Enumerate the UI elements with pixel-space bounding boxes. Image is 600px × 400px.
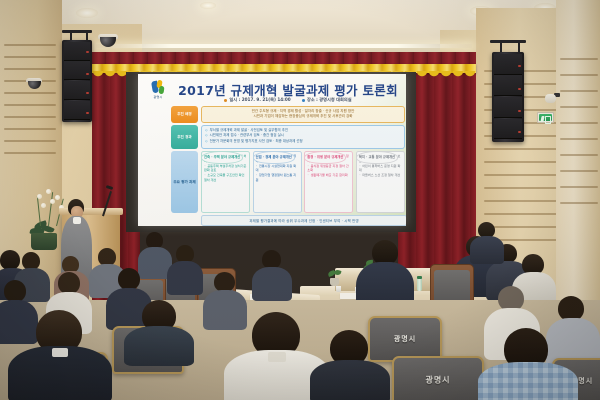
slide-footer: 과제별 평가결과에 따라 상위 우수과제 선정 · 인센티브 부여 · 시책 반… [201,215,406,226]
chair-with-label: 광명시 [392,356,484,400]
logo-caption: 광명시 [145,95,171,99]
speaker-mount-bar-right [490,40,526,43]
line-array-speaker-left [62,40,92,122]
matrix-col-header: 복지 · 교통 분야 규제개선 [356,151,398,164]
matrix-col-header: 건축 · 주택 분야 규제개선 [201,151,243,164]
projected-slide: 광명시 2017년 규제개혁 발굴과제 평가 토론회 일시 : 2017. 9.… [138,74,406,226]
matrix-item: 마을버스 노선 조정 절차 개선 [362,173,400,177]
matrix-item: 공동주택 부설주차장 설치기준 완화 검토 [204,164,246,173]
matrix-item: 어린이 통학버스 운영 지원 확대 [359,164,400,173]
matrix-item: 소규모 건축물 구조안전 확인 절차 개선 [204,173,244,182]
section-tag-background: 추진 배경 [171,106,198,123]
matrix-column: 산업 · 경제 분야 규제개선 ◦소상공인 영업 신고 구비서류 축소 ◦전통시… [253,151,302,213]
matrix-item: 음식점 위생등급 지정 절차 간소화 [307,164,348,173]
matrix-column: 복지 · 교통 분야 규제개선 ◦장애인 편의시설 설치 기준 보완 ◦어린이 … [356,151,405,213]
section-tag-matrix: 주요 평가 과제 [171,151,198,213]
downlight [76,8,98,18]
progress-line-2: 시민제안 과제 접수 · 관련부서 검토 · 중간 점검 실시 [210,133,284,137]
gwangmyeong-city-logo: 광명시 [145,80,171,102]
slide-section-progress: 추진 경과 ◇부서별 규제개혁 과제 발굴 · 사전검토 및 실무협의 추진 ◇… [171,125,405,149]
water-bottle-cap [417,276,422,279]
table-plant-pot [330,278,339,286]
progress-line-3: 전문가 자문회의 운영 및 평가지표 사전 검토 · 최종 대상과제 선정 [210,139,303,143]
slide-datetime: 일시 : 2017. 9. 21(목) 14:00 [229,97,290,102]
water-bottle [417,278,422,291]
chair-label: 광명시 [368,334,442,344]
slide-section-matrix: 주요 평가 과제 건축 · 주택 분야 규제개선 ◦건축 인허가 절차 간소화 … [171,151,405,213]
auditorium-photo: 광명시 2017년 규제개혁 발굴과제 평가 토론회 일시 : 2017. 9.… [0,0,600,400]
matrix-column: 건축 · 주택 분야 규제개선 ◦건축 인허가 절차 간소화 및 처리기간 단축… [201,151,250,213]
slide-section-background: 추진 배경 민간 주도형 규제 · 지역 경제 활성 · 일자리 창출 · 신규… [171,106,405,123]
dome-security-camera-center [98,34,118,47]
dome-security-camera-left [26,78,42,89]
section-tag-progress: 추진 경과 [171,125,198,149]
downlight [200,2,216,9]
line-array-speaker-right [492,52,524,142]
background-line-2: 시민과 기업이 체감하는 현장중심의 규제개혁 추진 및 사후관리 강화 [205,114,401,119]
plant-pot [31,233,57,250]
slide-location: 장소 : 광명시청 대회의실 [307,97,352,102]
chair-label: 광명시 [392,375,484,386]
slide-subtitle: 일시 : 2017. 9. 21(목) 14:00 장소 : 광명시청 대회의실 [171,97,405,103]
stage-light-strip [96,44,472,48]
matrix-item: 창업기업 행정절차 원스톱 지원 [256,173,296,182]
matrix-column: 환경 · 위생 분야 규제개선 ◦옥외광고물 설치 허가 기준 정비 ◦음식점 … [304,151,353,213]
matrix-item: 전통시장 시설현대화 지원 확대 [256,164,296,173]
wall-camera-right [545,92,560,103]
paper-cup [336,286,341,292]
progress-line-1: 부서별 규제개혁 과제 발굴 · 사전검토 및 실무협의 추진 [210,128,288,132]
matrix-col-header: 산업 · 경제 분야 규제개선 [253,151,295,164]
emergency-exit-sign [537,112,554,123]
matrix-col-header: 환경 · 위생 분야 규제개선 [304,151,346,164]
matrix-item: 생활폐기물 배출 기준 합리화 [311,173,348,177]
